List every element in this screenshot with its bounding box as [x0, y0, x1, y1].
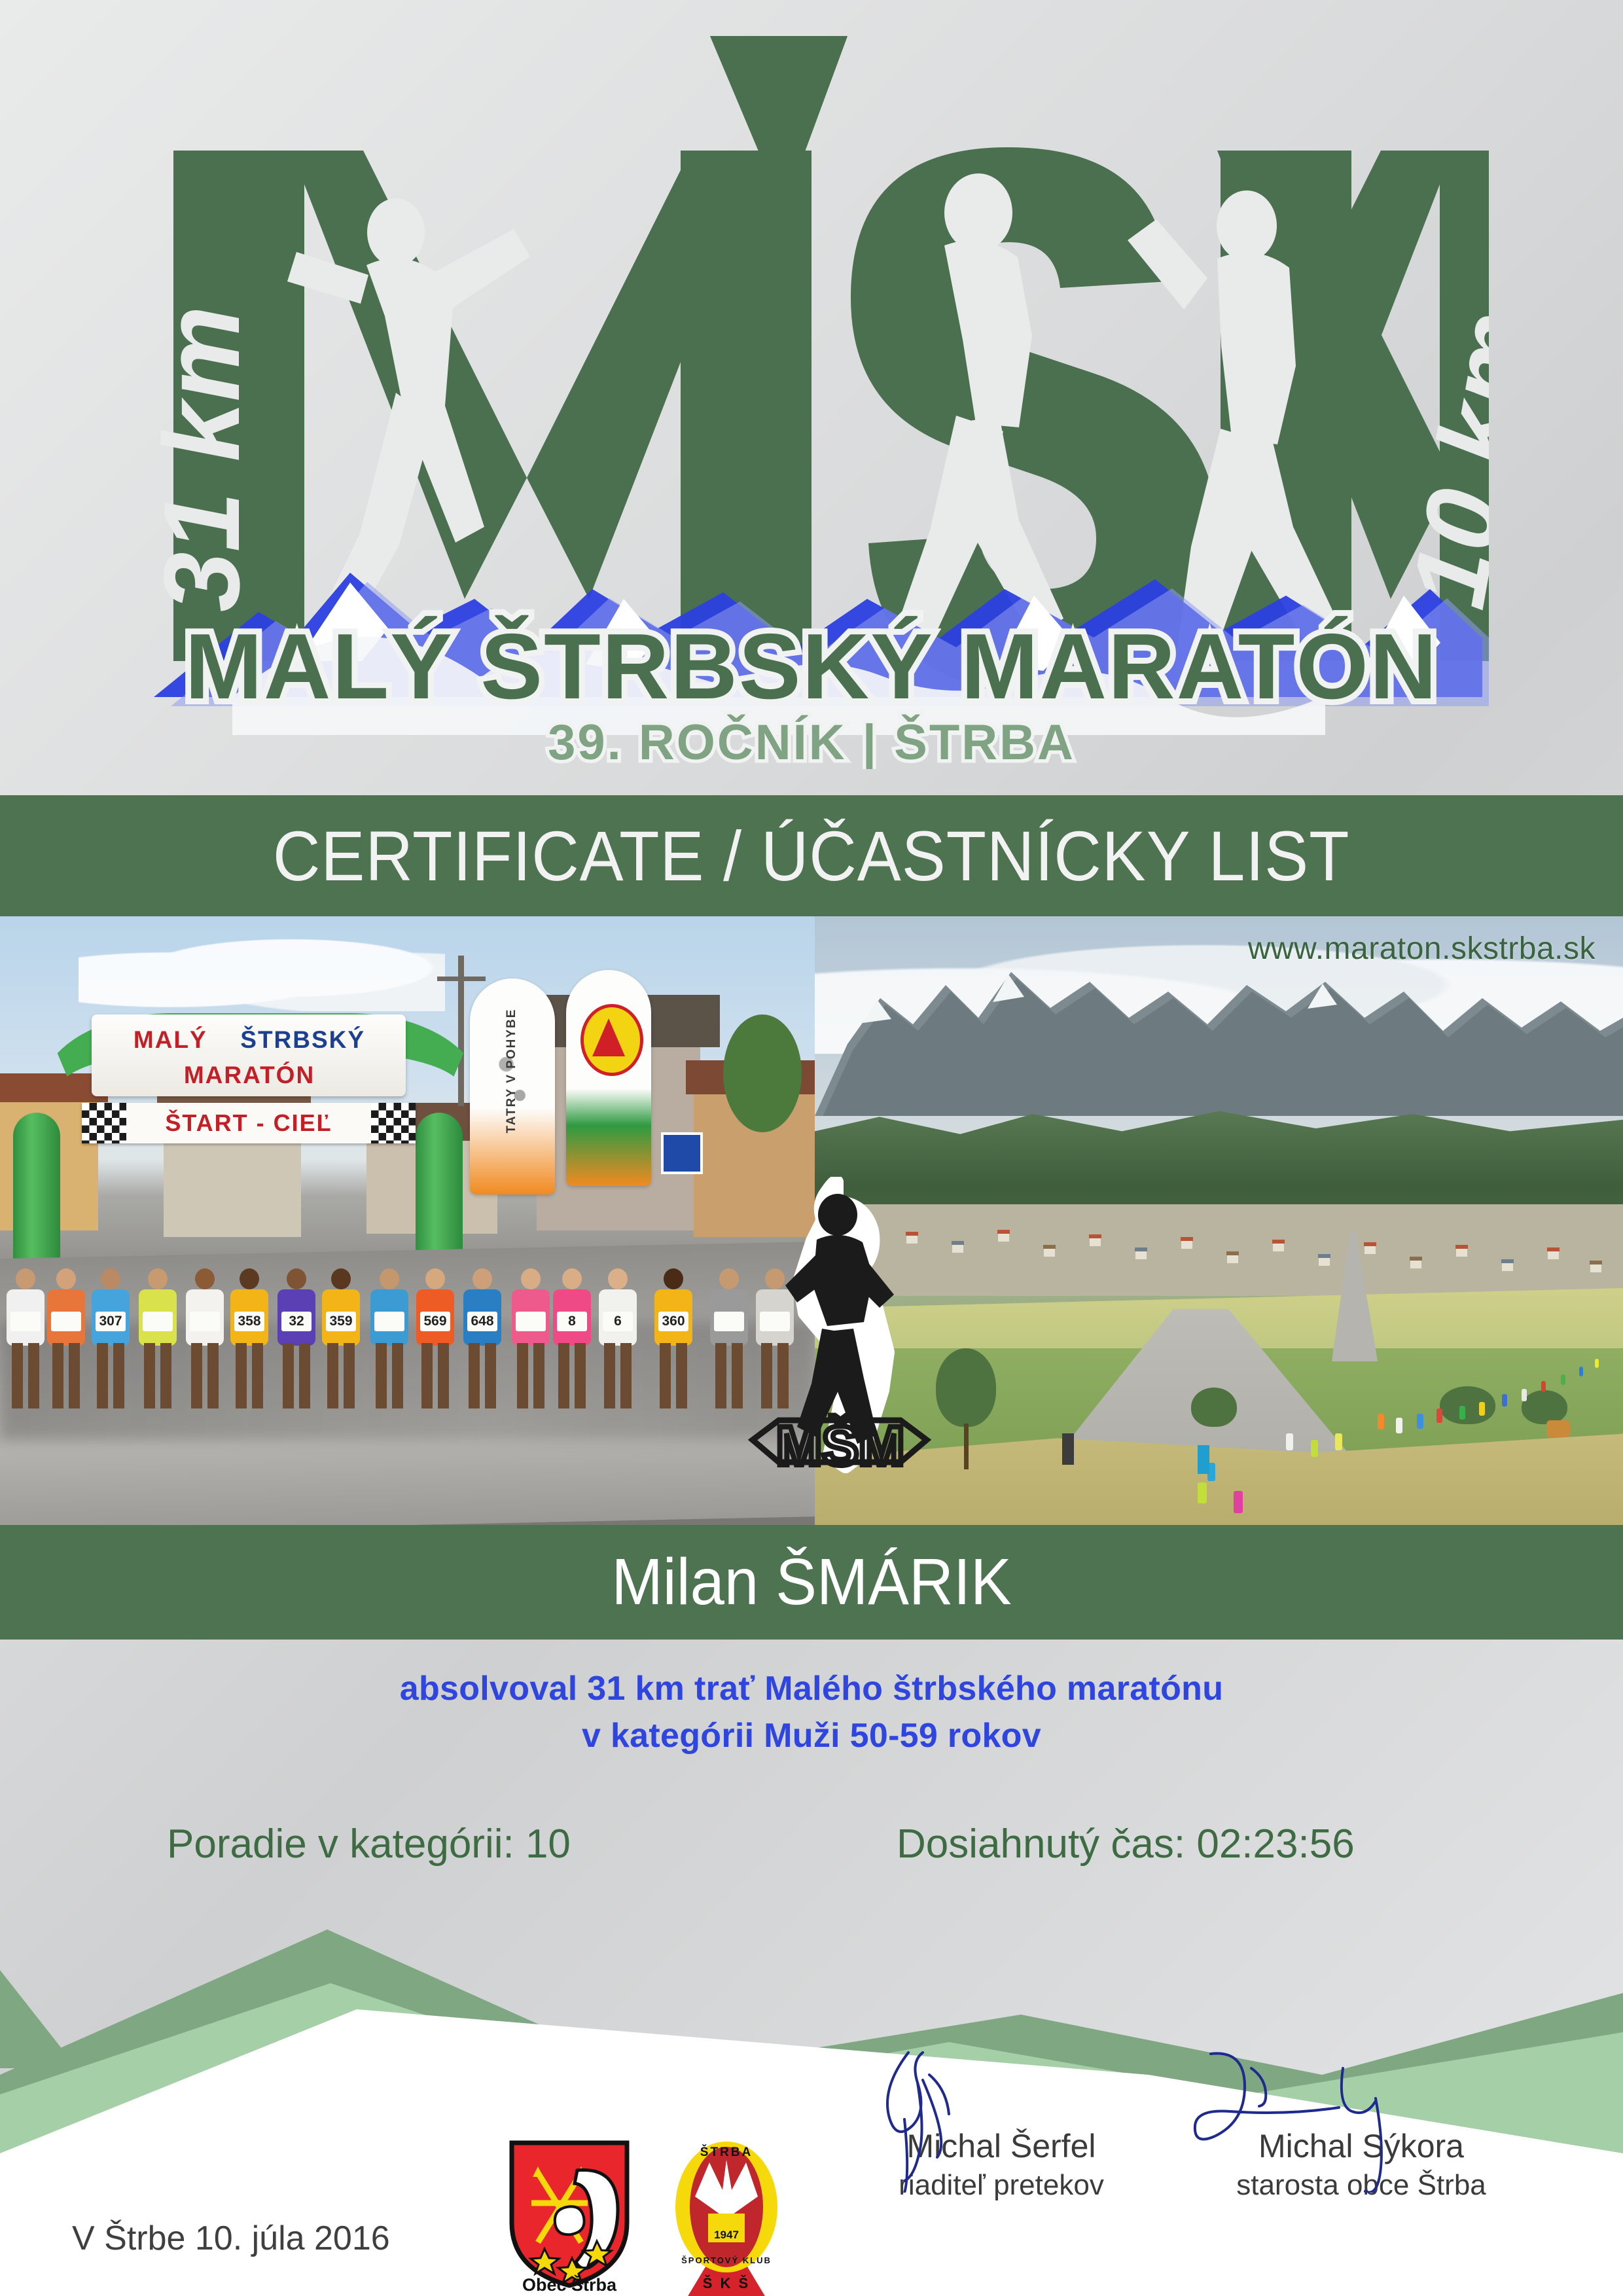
- start-finish-text: ŠTART - CIEĽ: [128, 1103, 370, 1143]
- result-row: Poradie v kategórii: 10 Dosiahnutý čas: …: [0, 1821, 1623, 1880]
- arch-banner-line1: MALÝ ŠTRBSKÝ: [96, 1026, 403, 1054]
- participant-name: Milan ŠMÁRIK: [611, 1545, 1011, 1620]
- bush: [1440, 1386, 1495, 1424]
- website-url: www.maraton.skstrba.sk: [1248, 931, 1596, 967]
- category-rank: Poradie v kategórii: 10: [167, 1821, 571, 1867]
- event-logo-zone: 31 km: [0, 0, 1623, 795]
- start-finish-banner: ŠTART - CIEĽ: [82, 1103, 416, 1143]
- sks-arc-text: ŠPORTOVÝ KLUB: [681, 2255, 772, 2265]
- tree: [936, 1348, 996, 1427]
- cow: [1546, 1420, 1570, 1437]
- sks-strba-logo: ŠTRBA 1947 ŠPORTOVÝ KLUB Š K Š: [654, 2134, 798, 2296]
- tree-trunk: [964, 1424, 969, 1469]
- signatory-name: Michal Sýkora: [1191, 2127, 1531, 2165]
- logo-title: MALÝ ŠTRBSKÝ MARATÓN: [185, 614, 1438, 719]
- logo-letter-m-left: [173, 151, 811, 661]
- finish-time: Dosiahnutý čas: 02:23:56: [897, 1821, 1355, 1867]
- signatory-role: starosta obce Štrba: [1191, 2169, 1531, 2202]
- svg-text:MŠM: MŠM: [776, 1415, 904, 1477]
- msm-runner-emblem: MŠM: [738, 1177, 941, 1484]
- achievement-line-2: v kategórii Muži 50-59 rokov: [0, 1708, 1623, 1755]
- spectator: [1198, 1445, 1209, 1474]
- svg-text:31 km: 31 km: [141, 306, 262, 612]
- bush: [1191, 1388, 1237, 1427]
- footer: V Štrbe 10. júla 2016 Obec Štrba: [0, 2029, 1623, 2296]
- crest-caption: Obec Štrba: [522, 2274, 617, 2293]
- distance-left-label: 31 km: [141, 306, 262, 612]
- certificate-title-band: CERTIFICATE / ÚČASTNÍCKY LIST: [0, 795, 1623, 916]
- pole-crossbar: [437, 977, 486, 981]
- result-info: absolvoval 31 km trať Malého štrbského m…: [0, 1640, 1623, 1914]
- sks-bottom-text: Š K Š: [703, 2275, 750, 2291]
- logo-subtitle: 39. ROČNÍK | ŠTRBA: [548, 715, 1075, 769]
- certificate-page: 31 km: [0, 0, 1623, 2296]
- participant-name-band: Milan ŠMÁRIK: [0, 1525, 1623, 1640]
- start-line-photo: MALÝ ŠTRBSKÝ MARATÓN ŠTART - CIEĽ TATRY …: [0, 916, 815, 1525]
- sks-top-text: ŠTRBA: [700, 2145, 753, 2159]
- sks-year: 1947: [714, 2229, 739, 2241]
- flag-text: TATRY V POHYBE: [505, 999, 519, 1143]
- tatra-mountains: [815, 946, 1623, 1116]
- signature-block-race-director: Michal Šerfel riaditeľ pretekov: [831, 2127, 1171, 2202]
- pedestrian-crossing-sign: [661, 1132, 703, 1174]
- issue-date: V Štrbe 10. júla 2016: [72, 2219, 390, 2258]
- signatory-role: riaditeľ pretekov: [831, 2169, 1171, 2202]
- signature-block-mayor: Michal Sýkora starosta obce Štrba: [1191, 2127, 1531, 2202]
- arch-banner-line2: MARATÓN: [96, 1062, 403, 1089]
- tree: [723, 1014, 802, 1132]
- bush: [1522, 1390, 1567, 1424]
- sponsor-flag-sks: [566, 970, 651, 1186]
- runner-pack: 307 358 32 359 569 648 8 6 360: [0, 1250, 815, 1446]
- spectator: [1062, 1433, 1074, 1465]
- inflatable-start-arch: MALÝ ŠTRBSKÝ MARATÓN ŠTART - CIEĽ: [13, 1001, 471, 1237]
- signatory-name: Michal Šerfel: [831, 2127, 1171, 2165]
- achievement-line-1: absolvoval 31 km trať Malého štrbského m…: [0, 1640, 1623, 1708]
- sponsor-flag-tatry: TATRY V POHYBE: [470, 978, 555, 1194]
- msm-logo: 31 km: [134, 36, 1489, 769]
- certificate-title: CERTIFICATE / ÚČASTNÍCKY LIST: [273, 815, 1349, 897]
- obec-strba-coat-of-arms: Obec Štrba: [504, 2139, 635, 2293]
